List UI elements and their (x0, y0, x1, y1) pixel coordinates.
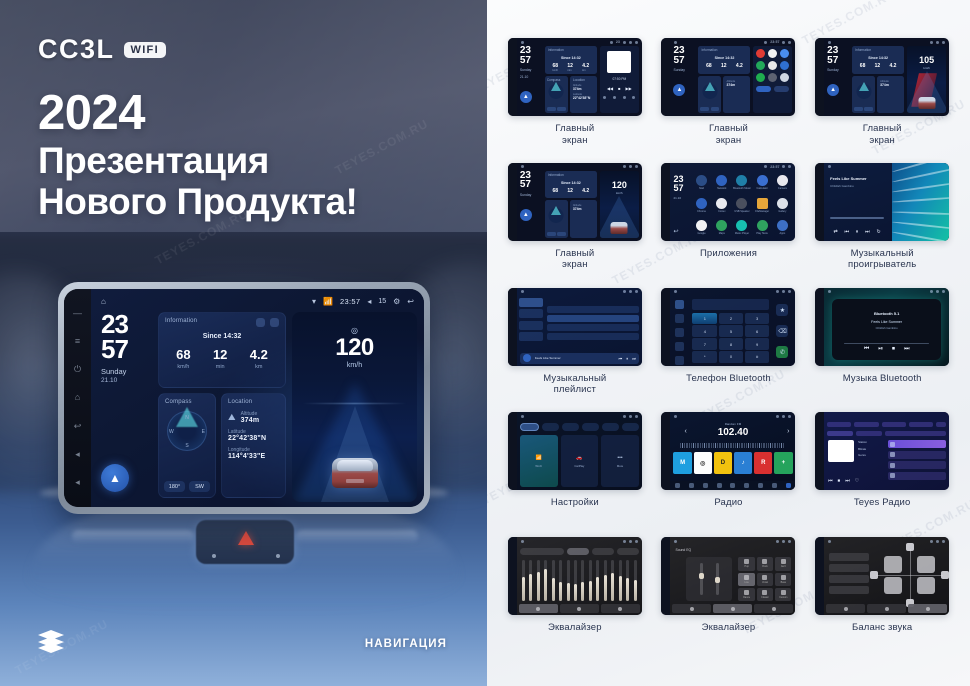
repeat-icon: ↻ (876, 229, 880, 235)
dock-tab-balance (908, 604, 947, 613)
back-arrow-icon[interactable]: ↩ (72, 421, 83, 432)
head-unit-screen[interactable]: — ≡ ⏻ ⌂ ↩ ◂ ◂ ⌂ (64, 289, 424, 507)
effect-button: Live (738, 573, 754, 586)
grid-cell[interactable]: Эквалайзер (501, 537, 649, 658)
wifi-icon (776, 415, 779, 418)
thumb-key-strip (508, 288, 517, 366)
list-icon (703, 483, 708, 488)
subtab-chip (885, 431, 946, 436)
thumbnail-caption: Радио (714, 497, 742, 509)
toolbar-chip (909, 422, 933, 427)
thumb-screen: 23 57 Sunday ▲ Information Since 14:32 (517, 163, 642, 241)
app-grid: Mail Network Bluetooth Music Calculator … (692, 173, 791, 238)
track-row (547, 324, 639, 331)
compass-north-label: N (185, 415, 189, 421)
thumb-key-strip (661, 288, 670, 366)
panel-title: Sound EQ (675, 548, 691, 552)
compass-title: Compass (165, 399, 209, 405)
toolbar-chip (854, 422, 878, 427)
app-label: Google (698, 232, 706, 235)
thumbnail-sound-balance[interactable] (815, 537, 949, 615)
thumb-screen (517, 537, 642, 615)
wifi-icon: 📶 (536, 455, 542, 461)
effect-button: Custom (775, 588, 791, 601)
wifi-icon (930, 41, 933, 44)
thumb-key-strip (508, 412, 517, 490)
rds-icon (717, 483, 722, 488)
thumb-screen: 23 57 Sunday ▲ Information Since 14:32 (824, 38, 949, 116)
thumbnail-caption: Приложения (700, 248, 757, 260)
search-icon (689, 483, 694, 488)
stat-value: 4.2 (582, 188, 589, 194)
car-3d-model (611, 222, 628, 234)
volume-icon[interactable]: ◂ (367, 298, 371, 306)
thumb-status-bar (670, 288, 795, 296)
head-unit-content: ⌂ ▾ 📶 23:57 ◂ 15 ⚙ ↩ (91, 289, 424, 507)
bluetooth-version-label: Bluetooth 5.1 (832, 311, 941, 316)
information-card: Information Since 14:32 68 12 4.2 (852, 46, 904, 74)
grid-cell[interactable]: 23 57 Sunday ▲ Information Since 14:32 (501, 163, 649, 284)
effect-button: Classic (757, 588, 773, 601)
information-title: Information (855, 48, 901, 52)
back-arrow-icon (635, 540, 638, 543)
fader-slider (716, 563, 719, 595)
speed-unit: km/h (923, 66, 930, 70)
altitude-value: 374m (573, 207, 594, 211)
grid-cell[interactable]: Station Bitrate Genre ⏮ ⏹ ⏭ ♡ (808, 412, 956, 533)
home-widgets: 23 57 Sunday ▲ Information Since 14:32 (827, 46, 946, 113)
clock-date: 21.10 (101, 377, 152, 384)
grid-cell[interactable]: Sound EQ Pop Rock Jazz Live Vocal Bass (655, 537, 803, 658)
thumb-screen: Feels Like Summer Childish Gambino ⇄ ⏮ ⏸… (824, 163, 949, 241)
effect-button: Vocal (757, 573, 773, 586)
navigation-arrow-icon: ▲ (520, 209, 532, 221)
wifi-icon (930, 290, 933, 293)
station-logo (890, 452, 895, 457)
wifi-icon (623, 415, 626, 418)
stat-value: 4.2 (736, 63, 743, 69)
thumb-key-strip (815, 412, 824, 490)
grid-cell[interactable]: 📶Wi-Fi 🚗CarPlay •••More Настройки (501, 412, 649, 533)
subtab-chip (856, 431, 882, 436)
app-item: USB Speaker (733, 195, 751, 215)
preset-button (829, 575, 869, 583)
effect-icon (744, 559, 749, 564)
dock-tab-eq (826, 604, 865, 613)
eq-band (522, 560, 525, 601)
back-arrow-icon (788, 415, 791, 418)
thumb-status-bar: 23:57 (670, 163, 795, 171)
grid-cell[interactable]: Bluetooth 5.1 Feels Like Summer Childish… (808, 288, 956, 409)
grid-cell[interactable]: 23:57 23 57 Sunday ▲ Informati (655, 38, 803, 159)
location-card[interactable]: Location ⛰ Altitude 374m (221, 393, 286, 498)
station-item (888, 472, 946, 480)
thumbnail-apps[interactable]: 23:57 23 57 21.10 ↩ Mail Network Bluetoo… (661, 163, 795, 241)
thumbnail-caption: Музыкальныйпроигрыватель (848, 248, 916, 271)
home-icon (674, 540, 677, 543)
radio-frequency: 102.40 (670, 427, 795, 438)
app-item: Cortex (713, 195, 731, 215)
wifi-icon (623, 540, 626, 543)
compass-direction-value (711, 107, 720, 111)
thumbnail-bluetooth-music[interactable]: Bluetooth 5.1 Feels Like Summer Childish… (815, 288, 949, 366)
teyes-subtabs (827, 431, 946, 437)
information-since: Since 14:32 (701, 56, 747, 60)
clock-date: 21.10 (673, 196, 689, 200)
app-icon-calculator (757, 175, 768, 186)
gear-icon (629, 290, 632, 293)
thumb-key-strip (661, 163, 670, 241)
clock-minutes: 57 (673, 56, 695, 66)
compass-heading-value (854, 107, 863, 111)
compass-heading-cone (705, 82, 715, 91)
equalizer-dock (519, 604, 640, 613)
settings-icon (772, 483, 777, 488)
thumbnail-settings[interactable]: 📶Wi-Fi 🚗CarPlay •••More (508, 412, 642, 490)
grid-cell[interactable]: Баланс звука (808, 537, 956, 658)
preset-tile: M (673, 452, 691, 474)
thumbnail-music-player[interactable]: Feels Like Summer Childish Gambino ⇄ ⏮ ⏸… (815, 163, 949, 241)
thumbnail-home-media[interactable]: 23 23 57 Sunday 21.10 ▲ (508, 38, 642, 116)
eq-band (537, 560, 540, 601)
dial-key: 8 (719, 338, 744, 349)
effect-label: Vocal (762, 581, 768, 584)
volume-up-icon[interactable]: ◂ (72, 477, 83, 488)
information-title: Information (548, 173, 594, 177)
sidebar-tab-tracks (519, 298, 543, 307)
settings-tab-about (602, 423, 619, 431)
track-artist: Childish Gambino (832, 326, 941, 330)
effect-button: Jazz (775, 557, 791, 570)
thumbnail-equalizer[interactable] (508, 537, 642, 615)
seat-front-left (884, 556, 902, 573)
grid-cell[interactable]: 23:57 23 57 21.10 ↩ Mail Network Bluetoo… (655, 163, 803, 284)
thumbnail-caption: Эквалайзер (548, 622, 602, 634)
compass-heading-cone (551, 82, 561, 91)
thumbnail-bluetooth-phone[interactable]: 1 2 3 4 5 6 7 8 9 * 0 # (661, 288, 795, 366)
app-item: Chrome (692, 195, 710, 215)
effect-icon (762, 559, 767, 564)
thumbnail-home-road-blue[interactable]: 23 57 Sunday ▲ Information Since 14:32 (508, 163, 642, 241)
app-label: Chrome (697, 210, 706, 213)
air-vent-right (296, 530, 418, 543)
wifi-icon: ▾ (312, 298, 316, 306)
eq-icon (758, 483, 763, 488)
power-icon[interactable]: ⏻ (72, 364, 83, 375)
preset-tile: ◎ (694, 452, 712, 474)
clock-widget[interactable]: 23 57 Sunday 21.10 ▲ (98, 312, 152, 502)
product-logo: CC3L WIFI (38, 34, 166, 65)
app-icon-play-store (756, 73, 765, 82)
track-row (547, 306, 639, 313)
thumb-key-strip (815, 38, 824, 116)
information-card[interactable]: Information Since 14:32 68 (158, 312, 286, 388)
car-plate (346, 479, 364, 483)
grid-cell[interactable]: Feels Like Summer ⏮ ⏸ ⏭ Музыкальныйплейл… (501, 288, 649, 409)
compass-card (698, 76, 721, 113)
settings-tab-display (562, 423, 579, 431)
presentation-slide: TEYES.COM.RU TEYES.COM.RU TEYES.COM.RU C… (0, 0, 970, 686)
band-icon (675, 483, 680, 488)
effect-icon (744, 575, 749, 580)
app-item: Music Player (733, 217, 751, 237)
pause-icon: ⏸ (626, 356, 628, 361)
stop-icon: ■ (618, 86, 620, 91)
balance-presets (829, 553, 869, 597)
app-icon-maps (780, 49, 789, 58)
clock-day: Sunday (520, 68, 542, 72)
effect-label: Classic (761, 596, 769, 599)
thumbnail-home-apps[interactable]: 23:57 23 57 Sunday ▲ Informati (661, 38, 795, 116)
back-arrow-icon[interactable]: ↩ (407, 298, 414, 306)
speed-value: 105 (919, 55, 934, 65)
apps-panel (753, 46, 792, 113)
effect-button: Pop (738, 557, 754, 570)
thumbnail-caption: Баланс звука (852, 622, 912, 634)
settings-icon (675, 356, 684, 365)
hardware-key-strip[interactable]: — ≡ ⏻ ⌂ ↩ ◂ ◂ (64, 289, 91, 507)
call-icon: ✆ (776, 346, 788, 358)
eq-band (634, 560, 637, 601)
preset-button (829, 586, 869, 594)
effect-icon (762, 590, 767, 595)
player-controls: ⏮ ⏯ ⏹ ⏭ (832, 346, 941, 353)
gear-icon[interactable]: ⚙ (393, 298, 400, 306)
altitude-value: 374m (573, 87, 594, 91)
album-cover (828, 440, 854, 462)
effect-icon (781, 575, 786, 580)
dial-key: * (692, 351, 717, 362)
preset-button (617, 548, 639, 555)
dock-tab-eq (672, 604, 711, 613)
thumbnail-caption: Главныйэкран (863, 123, 902, 146)
stat-unit: km (582, 69, 589, 72)
app-icon-usb-speaker (736, 198, 747, 209)
driving-view-card: 120 km/h (600, 171, 639, 238)
compass-card (852, 76, 875, 113)
thumbnail-home-road-red[interactable]: 23 57 Sunday ▲ Information Since 14:32 (815, 38, 949, 116)
app-icon-settings (768, 61, 777, 70)
information-since: Since 14:32 (548, 56, 594, 60)
sidebar-tab-artists (519, 321, 543, 330)
wifi-icon (610, 41, 613, 44)
home-icon (828, 290, 831, 293)
balance-icon (772, 607, 776, 611)
information-actions[interactable] (256, 318, 279, 327)
seat-rear-right (917, 577, 935, 594)
home-icon[interactable]: ⌂ (101, 298, 106, 306)
thumbnail-playlist[interactable]: Feels Like Summer ⏮ ⏸ ⏭ (508, 288, 642, 366)
dial-key: 1 (692, 313, 717, 324)
sidebar-tab-folders (519, 332, 543, 341)
effect-label: Custom (779, 596, 787, 599)
station-item (888, 461, 946, 469)
station-list (888, 440, 946, 486)
settings-card-label: CarPlay (574, 464, 584, 468)
stat-unit: km/h (552, 69, 558, 72)
headline-line-2: Нового Продукта! (38, 181, 357, 222)
app-item: Maps (713, 217, 731, 237)
grid-cell[interactable]: 1 2 3 4 5 6 7 8 9 * 0 # (655, 288, 803, 409)
headline-year: 2024 (38, 88, 357, 140)
compass-heading-value: 180° (164, 481, 185, 492)
station-item (888, 440, 946, 448)
thumb-status-bar (517, 163, 642, 171)
compass-heading-cone (859, 82, 869, 91)
settings-cards: 📶Wi-Fi 🚗CarPlay •••More (520, 435, 639, 487)
stat-value: 68 (706, 63, 712, 69)
headline: 2024 Презентация Нового Продукта! (38, 88, 357, 223)
dial-key: 0 (719, 351, 744, 362)
car-3d-model (332, 448, 378, 488)
latitude-value: 22°42'38"N (573, 96, 594, 100)
information-card: Information Since 14:32 68 12 4.2 (698, 46, 750, 74)
gear-icon (782, 41, 785, 44)
dock-tab-eq (519, 604, 558, 613)
driving-view-card[interactable]: ◎ 120 km/h (292, 312, 417, 502)
thumbnail-teyes-radio[interactable]: Station Bitrate Genre ⏮ ⏹ ⏭ ♡ (815, 412, 949, 490)
preset-button (567, 548, 589, 555)
radio-dock (670, 481, 795, 490)
grid-cell[interactable]: Random FM ‹ 102.40 › M ◎ D ♪ R + (655, 412, 803, 533)
thumbnail-radio[interactable]: Random FM ‹ 102.40 › M ◎ D ♪ R + (661, 412, 795, 490)
back-arrow-icon (942, 41, 945, 44)
thumbnail-caption: Настройки (551, 497, 599, 509)
dial-key: 4 (692, 325, 717, 336)
thumb-status-bar (824, 537, 949, 545)
radio-station-name: Random FM (670, 422, 795, 426)
expand-icon[interactable] (270, 318, 279, 327)
thumb-screen: 📶Wi-Fi 🚗CarPlay •••More (517, 412, 642, 490)
app-icon-maps (716, 220, 727, 231)
navigation-arrow-icon[interactable]: ▲ (101, 464, 129, 492)
track-list (547, 298, 639, 352)
teyes-now-playing: Station Bitrate Genre ⏮ ⏹ ⏭ ♡ (828, 440, 888, 486)
pause-icon: ⏸ (856, 229, 859, 235)
app-icon-gallery (768, 73, 777, 82)
visualizer-waves (892, 163, 950, 241)
eq-icon (536, 607, 540, 611)
preset-button (829, 564, 869, 572)
toolbar-chip (882, 422, 906, 427)
app-label: Apps (780, 232, 786, 235)
next-icon: ⏭ (632, 356, 636, 361)
thumb-key-strip (815, 288, 824, 366)
eq-band (619, 560, 622, 601)
app-item: Gallery (773, 195, 791, 215)
clock-minutes: 57 (827, 56, 849, 66)
favorite-star-icon: ★ (776, 304, 788, 316)
hazard-triangle-icon (238, 531, 254, 545)
sound-effect-grid: Pop Rock Jazz Live Vocal Bass Dance Clas… (738, 557, 791, 601)
media-controls: ◀◀ ■ ▶▶ (600, 86, 639, 91)
stat-value: 12 (567, 188, 573, 194)
compass-heading-value (547, 107, 556, 111)
preset-button (592, 548, 614, 555)
latitude-value: 22°42'38"N (228, 435, 279, 442)
balance-icon (926, 607, 930, 611)
grid-cell[interactable]: Feels Like Summer Childish Gambino ⇄ ⏮ ⏸… (808, 163, 956, 284)
compass-card (545, 200, 568, 237)
signal-icon: 📶 (323, 298, 333, 306)
wifi-icon (930, 540, 933, 543)
back-arrow-icon (788, 41, 791, 44)
app-icon-network (716, 175, 727, 186)
phone-actions: ★ ⌫ ✆ (772, 300, 792, 363)
track-row (547, 315, 639, 322)
thumb-status-bar (517, 412, 642, 420)
stereo-icon (730, 483, 735, 488)
stop-icon: ⏹ (838, 478, 841, 484)
compass-east-label: E (202, 429, 205, 435)
thumb-key-strip (815, 537, 824, 615)
information-since: Since 14:32 (548, 181, 594, 185)
subtab-chip (827, 431, 853, 436)
clock-minutes: 57 (101, 337, 152, 362)
thumbnail-caption: Главныйэкран (709, 123, 748, 146)
grid-cell[interactable]: 23 57 Sunday ▲ Information Since 14:32 (808, 38, 956, 159)
balance-right-button (941, 571, 949, 579)
app-item: Mail (692, 173, 710, 193)
grid-cell[interactable]: 23 23 57 Sunday 21.10 ▲ (501, 38, 649, 159)
widget-column: Information Since 14:32 68 (158, 312, 286, 502)
balance-icon (618, 607, 622, 611)
thumb-status-bar (670, 537, 795, 545)
information-card: Information Since 14:32 68 12 4.2 (545, 171, 597, 199)
eq-band (552, 560, 555, 601)
refresh-icon[interactable] (256, 318, 265, 327)
volume-down-icon[interactable]: ◂ (72, 449, 83, 460)
information-stats: 68 km/h 12 min 4.2 (165, 348, 279, 370)
mountain-icon: ⛰ (228, 412, 236, 423)
stat-item: 68 km/h (176, 348, 190, 370)
preset-tile: + (774, 452, 792, 474)
compass-card[interactable]: Compass N S W E 180° (158, 393, 216, 498)
volume-level: 15 (378, 298, 386, 305)
thumb-status-bar (517, 288, 642, 296)
back-arrow-icon (942, 290, 945, 293)
stat-unit: min (567, 69, 573, 72)
thumb-screen: Station Bitrate Genre ⏮ ⏹ ⏭ ♡ (824, 412, 949, 490)
thumb-status-bar (670, 412, 795, 420)
eq-band (596, 560, 599, 601)
compass-direction-value (557, 232, 566, 236)
hero-panel: TEYES.COM.RU TEYES.COM.RU TEYES.COM.RU C… (0, 0, 487, 686)
thumbnail-equalizer-2[interactable]: Sound EQ Pop Rock Jazz Live Vocal Bass (661, 537, 795, 615)
car-3d-model (918, 97, 935, 109)
dock-tab-sound (713, 604, 752, 613)
gear-icon (782, 290, 785, 293)
settings-card-more: •••More (601, 435, 639, 487)
thumb-screen: Random FM ‹ 102.40 › M ◎ D ♪ R + (670, 412, 795, 490)
track-title: Feels Like Summer (832, 320, 941, 324)
gear-icon (936, 290, 939, 293)
track-artist: Childish Gambino (830, 184, 884, 188)
home-icon[interactable]: ⌂ (72, 392, 83, 403)
home-icon (828, 165, 831, 168)
grid-icon (623, 96, 626, 99)
seat-rear-left (884, 577, 902, 594)
station-logo (890, 463, 895, 468)
widget-column: Information Since 14:32 68 12 4.2 (545, 171, 597, 238)
back-arrow-icon (788, 165, 791, 168)
app-icon-gallery (777, 198, 788, 209)
phone-number-field (692, 299, 769, 310)
key-menu-icon[interactable]: ≡ (72, 336, 83, 347)
navigation-arrow-icon: ▲ (827, 84, 839, 96)
effect-button: Rock (757, 557, 773, 570)
key-minus-icon[interactable]: — (72, 308, 83, 319)
